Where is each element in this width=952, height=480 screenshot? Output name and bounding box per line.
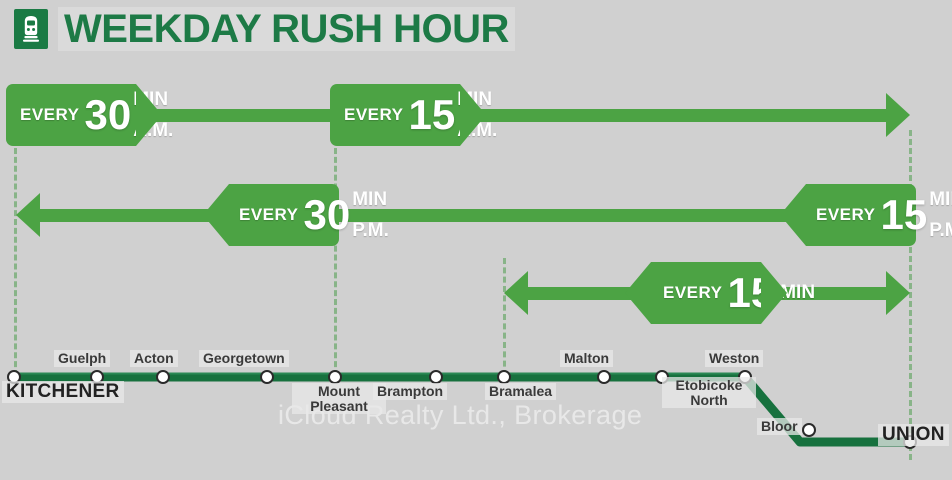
band-am-30-every: EVERY — [20, 105, 80, 125]
band-pm-15-number: 15 — [881, 196, 928, 234]
band-pm-15-every: EVERY — [816, 205, 876, 225]
station-label-union: UNION — [878, 424, 949, 446]
station-dot-brampton[interactable] — [430, 371, 442, 383]
band-allday-15: EVERY 15 MIN — [651, 262, 761, 324]
station-label-brampton: Brampton — [373, 383, 447, 400]
station-label-etobicoke-north: Etobicoke North — [662, 377, 756, 408]
infographic-canvas: WEEKDAY RUSH HOUR EVERY 30 MIN A.M. EVER… — [0, 0, 952, 480]
station-label-acton: Acton — [130, 350, 178, 367]
band-pm-15-period: P.M. — [929, 221, 952, 240]
station-label-mount-pleasant-line2: Pleasant — [310, 398, 368, 414]
station-dot-malton[interactable] — [598, 371, 610, 383]
station-label-guelph: Guelph — [54, 350, 110, 367]
station-dot-georgetown[interactable] — [261, 371, 273, 383]
band-pm-30-period: P.M. — [352, 221, 389, 240]
station-dot-acton[interactable] — [157, 371, 169, 383]
station-label-mount-pleasant-line1: Mount — [318, 383, 360, 399]
band-am-30: EVERY 30 MIN A.M. — [6, 84, 136, 146]
band-am-15-unit: MIN — [457, 90, 497, 109]
band-am-15-number: 15 — [409, 96, 456, 134]
band-pm-30-number: 30 — [304, 196, 351, 234]
band-am-30-period: A.M. — [133, 121, 173, 140]
go-train-icon — [14, 9, 48, 49]
station-dot-bloor[interactable] — [803, 424, 815, 436]
frequency-row-am: EVERY 30 MIN A.M. EVERY 15 MIN A.M. — [0, 80, 952, 150]
arrow-head-west-pm — [16, 193, 40, 237]
band-allday-15-unit: MIN — [780, 282, 815, 304]
band-am-30-unit: MIN — [133, 90, 173, 109]
band-pm-15: EVERY 15 MIN P.M. — [806, 184, 916, 246]
station-dot-bramalea[interactable] — [498, 371, 510, 383]
station-label-kitchener: KITCHENER — [2, 381, 124, 403]
arrow-head-east-allday — [886, 271, 910, 315]
station-label-georgetown: Georgetown — [199, 350, 289, 367]
band-pm-30: EVERY 30 MIN P.M. — [229, 184, 339, 246]
station-label-malton: Malton — [560, 350, 613, 367]
band-am-15-every: EVERY — [344, 105, 404, 125]
page-title: WEEKDAY RUSH HOUR — [58, 7, 515, 51]
station-label-etobicoke-north-line1: Etobicoke — [676, 377, 743, 393]
arrow-head-east-am — [886, 93, 910, 137]
band-am-15: EVERY 15 MIN A.M. — [330, 84, 460, 146]
band-allday-15-number: 15 — [728, 274, 775, 312]
arrow-head-west-allday — [504, 271, 528, 315]
frequency-row-allday: EVERY 15 MIN — [0, 258, 952, 328]
header: WEEKDAY RUSH HOUR — [0, 0, 952, 58]
station-label-bramalea: Bramalea — [485, 383, 556, 400]
station-label-weston: Weston — [705, 350, 763, 367]
frequency-row-pm: EVERY 30 MIN P.M. EVERY 15 MIN P.M. — [0, 180, 952, 250]
band-am-30-number: 30 — [85, 96, 132, 134]
band-pm-30-unit: MIN — [352, 190, 389, 209]
station-dot-mount-pleasant[interactable] — [329, 371, 341, 383]
band-am-15-period: A.M. — [457, 121, 497, 140]
band-pm-15-unit: MIN — [929, 190, 952, 209]
band-pm-30-every: EVERY — [239, 205, 299, 225]
station-label-bloor: Bloor — [757, 418, 802, 435]
station-label-mount-pleasant: Mount Pleasant — [292, 383, 386, 414]
band-allday-15-every: EVERY — [663, 283, 723, 303]
station-label-etobicoke-north-line2: North — [690, 392, 727, 408]
